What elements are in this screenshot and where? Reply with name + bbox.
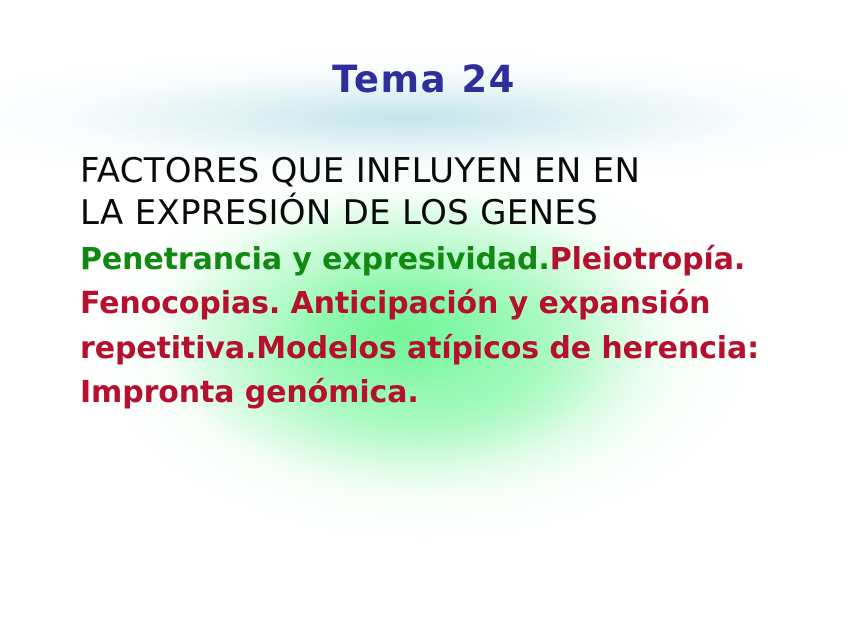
slide-title: Tema 24 [0, 60, 848, 101]
slide-topics: Penetrancia y expresividad.Pleiotropía. … [80, 238, 820, 414]
topics-green-text: Penetrancia y expresividad. [80, 242, 550, 277]
slide-heading: FACTORES QUE INFLUYEN EN EN LA EXPRESIÓN… [80, 150, 820, 234]
slide-content: Tema 24 FACTORES QUE INFLUYEN EN EN LA E… [0, 0, 848, 636]
slide-body: FACTORES QUE INFLUYEN EN EN LA EXPRESIÓN… [80, 150, 820, 415]
presentation-slide: Tema 24 FACTORES QUE INFLUYEN EN EN LA E… [0, 0, 848, 636]
